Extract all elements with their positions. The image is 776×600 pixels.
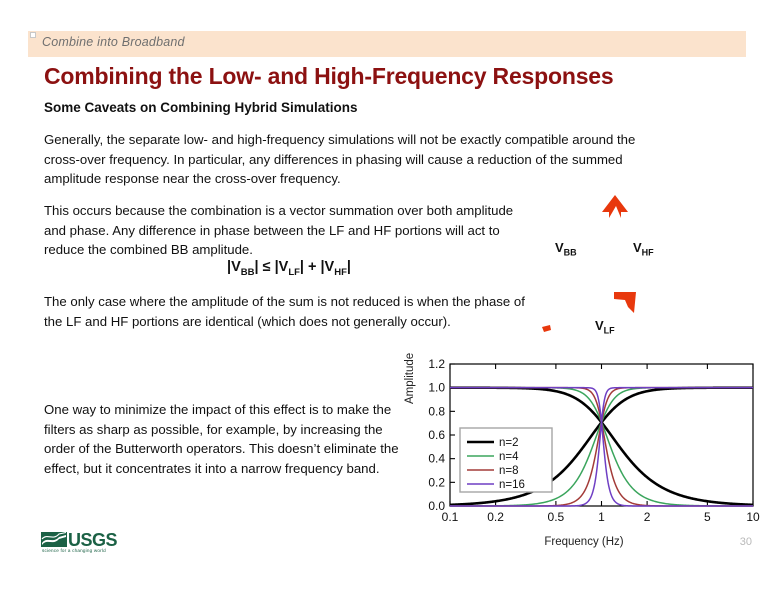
body-paragraph-4: One way to minimize the impact of this e… [44, 400, 399, 478]
equation-plus: | + |V [300, 259, 334, 275]
page-number: 30 [740, 536, 752, 548]
page-title: Combining the Low- and High-Frequency Re… [44, 63, 613, 90]
chart-legend-label-n=8: n=8 [499, 465, 519, 477]
equation-mid-subscript: LF [288, 267, 300, 278]
arrowhead-up-right-icon [614, 292, 636, 313]
body-paragraph-1: Generally, the separate low- and high-fr… [44, 130, 664, 189]
chart-x-tick-label: 5 [704, 510, 711, 524]
chart-x-tick-label: 1 [598, 510, 605, 524]
chart-legend: n=2n=4n=8n=16 [460, 428, 552, 492]
chart-y-tick-label: 0.6 [428, 428, 445, 442]
arrowhead-up-icon [602, 195, 628, 218]
arrow-stub-icon [542, 325, 551, 332]
vector-label-vhf-subscript: HF [642, 248, 654, 258]
chart-x-tick-label: 2 [644, 510, 651, 524]
body-paragraph-3: The only case where the amplitude of the… [44, 292, 534, 331]
chart-y-tick-label: 0.0 [428, 499, 445, 513]
chart-x-axis-label: Frequency (Hz) [408, 536, 760, 548]
chart-x-tick-label: 10 [746, 510, 760, 524]
resize-handle-icon[interactable] [30, 32, 36, 38]
chart-x-tick-label: 0.5 [548, 510, 565, 524]
body-paragraph-2: This occurs because the combination is a… [44, 201, 514, 260]
vector-label-vbb: VBB [555, 240, 577, 258]
section-header-band: Combine into Broadband [28, 31, 746, 57]
equation-rhs-subscript: HF [334, 267, 347, 278]
chart-y-tick-label: 1.0 [428, 381, 445, 395]
usgs-logo: USGS science for a changing world [40, 531, 132, 555]
usgs-wave-icon [41, 532, 67, 547]
chart-plot-svg: 0.10.20.5125100.00.20.40.60.81.01.2n=2n=… [408, 356, 760, 536]
section-header-label: Combine into Broadband [42, 35, 185, 49]
butterworth-crossover-chart: Amplitude 0.10.20.5125100.00.20.40.60.81… [408, 356, 760, 556]
chart-legend-label-n=4: n=4 [499, 451, 519, 463]
chart-y-tick-label: 0.8 [428, 404, 445, 418]
vector-label-vhf: VHF [633, 240, 654, 258]
vector-label-vlf-subscript: LF [604, 326, 615, 336]
usgs-tagline: science for a changing world [42, 548, 106, 553]
chart-legend-label-n=16: n=16 [499, 479, 525, 491]
inequality-equation: |VBB| ≤ |VLF| + |VHF| [44, 259, 534, 278]
equation-lhs-subscript: BB [241, 267, 255, 278]
chart-x-tick-label: 0.2 [487, 510, 504, 524]
slide-canvas: Combine into Broadband Combining the Low… [0, 0, 776, 600]
chart-y-tick-label: 0.4 [428, 452, 445, 466]
vector-label-vlf: VLF [595, 318, 615, 336]
section-subtitle: Some Caveats on Combining Hybrid Simulat… [44, 100, 358, 115]
chart-legend-label-n=2: n=2 [499, 437, 519, 449]
equation-relation: | ≤ |V [255, 259, 289, 275]
equation-close: | [347, 259, 351, 275]
vector-label-vbb-subscript: BB [564, 248, 577, 258]
chart-y-tick-label: 1.2 [428, 357, 445, 371]
chart-y-tick-label: 0.2 [428, 475, 445, 489]
vector-summation-diagram: VBB VHF VLF [520, 190, 690, 355]
equation-lhs: |V [227, 259, 241, 275]
